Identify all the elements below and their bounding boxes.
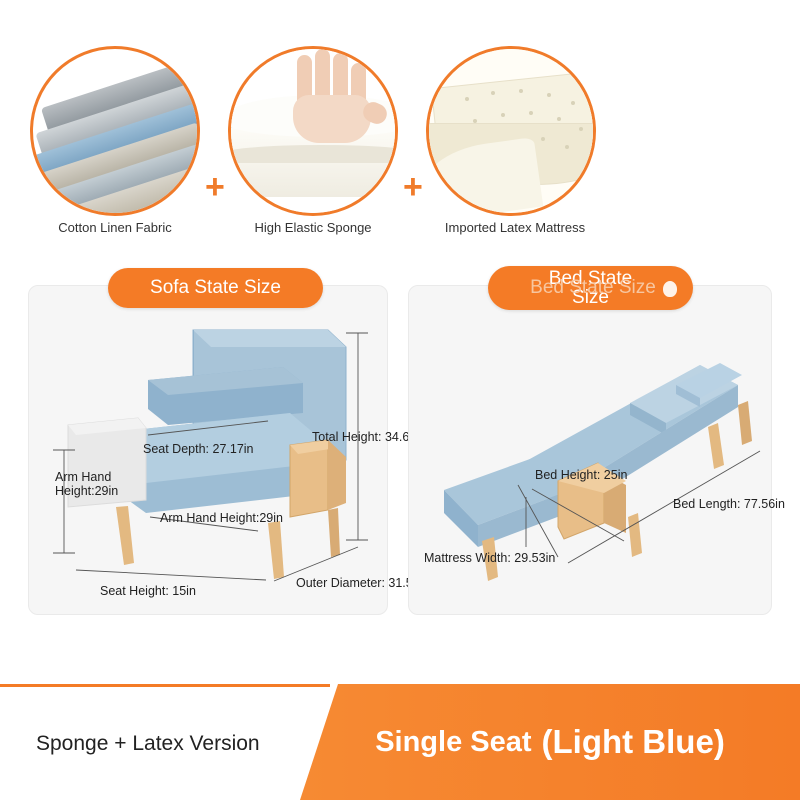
plus-symbol-2: + <box>403 168 423 207</box>
bed-illustration <box>408 285 772 615</box>
material-label-latex: Imported Latex Mattress <box>400 220 630 235</box>
bottom-banner: Sponge + Latex Version Single Seat (Ligh… <box>0 684 800 800</box>
plus-symbol-1: + <box>205 168 225 207</box>
materials-row: Cotton Linen Fabric + High Elastic Spong… <box>0 28 800 243</box>
banner-color-label: (Light Blue) <box>542 723 725 761</box>
cursor-icon <box>663 281 677 297</box>
material-label-sponge: High Elastic Sponge <box>198 220 428 235</box>
bed-panel-title-line1: Bed State <box>512 269 669 288</box>
sofa-dim-width: Outer Diameter: 31.5in <box>296 576 422 590</box>
sofa-dim-arm-hand-height-line2: Height:29in <box>55 484 118 498</box>
sofa-panel-title: Sofa State Size <box>108 268 323 308</box>
bed-dim-bed-height: Bed Height: 25in <box>535 468 627 482</box>
material-label-fabric: Cotton Linen Fabric <box>0 220 230 235</box>
banner-version-label: Sponge + Latex Version <box>0 732 260 756</box>
banner-left-section: Sponge + Latex Version <box>0 684 330 800</box>
latex-sheet-icon <box>426 46 596 216</box>
bed-dim-bed-length: Bed Length: 77.56in <box>673 497 785 511</box>
sofa-dim-outer-diameter: Seat Height: 15in <box>100 584 196 598</box>
banner-right-section: Single Seat (Light Blue) <box>300 684 800 800</box>
bed-dim-mattress-width: Mattress Width: 29.53in <box>424 551 555 565</box>
sofa-dim-seat-height: Arm Hand Height:29in <box>160 511 283 525</box>
fabric-swatches-icon <box>30 46 200 216</box>
sofa-dim-arm-hand-height-line1: Arm Hand <box>55 470 111 484</box>
banner-seat-label: Single Seat <box>375 726 531 759</box>
bed-panel-title-line2: Size <box>512 288 669 307</box>
hand-pressing-sponge-icon <box>228 46 398 216</box>
sofa-dim-seat-depth: Seat Depth: 27.17in <box>143 442 254 456</box>
